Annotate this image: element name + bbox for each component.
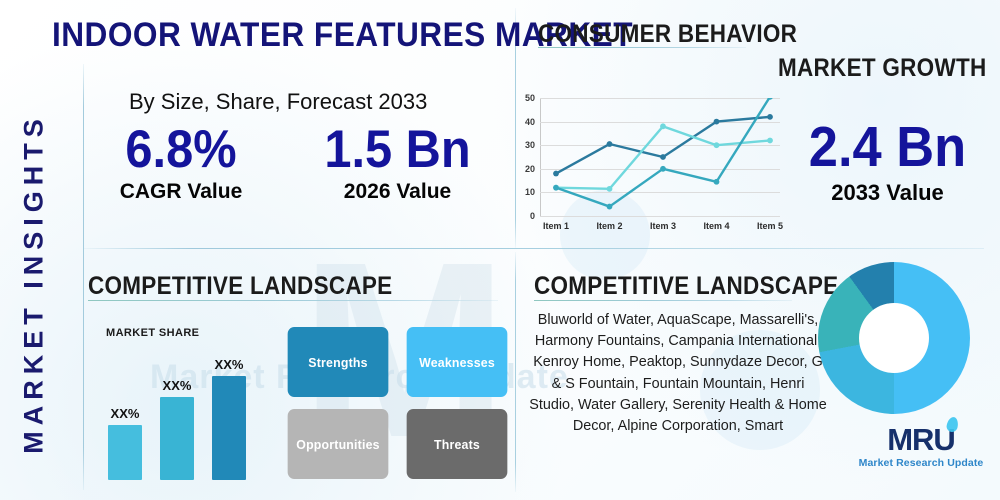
kpi-cagr: 6.8% CAGR Value [101,122,261,204]
chart-data-point [607,141,613,147]
chart-data-point [553,185,559,191]
infographic-canvas: M Market Research Update MARKET INSIGHTS… [0,0,1000,500]
section-heading-competitive-landscape-left: COMPETITIVE LANDSCAPE [88,272,392,301]
chart-x-tick-label: Item 1 [543,221,569,231]
chart-gridline [540,216,780,217]
section-heading-consumer-behavior: CONSUMER BEHAVIOR [538,20,797,49]
brand-logo: MRU Market Research Update [857,424,985,469]
chart-data-point [660,154,666,160]
kpi-cagr-value: 6.8% [107,122,254,178]
kpi-forecast-year-value: 2.4 Bn [798,118,977,178]
chart-y-tick-label: 0 [530,211,535,221]
kpi-base-year-caption: 2026 Value [315,180,480,204]
bar-column: XX% [212,376,246,480]
section-rule-consumer-behavior [538,47,746,48]
vertical-divider-left [83,64,84,490]
kpi-base-year-value: 1.5 Bn [322,122,474,178]
chart-y-tick-label: 10 [525,187,535,197]
vertical-divider-bottom [515,252,516,492]
market-share-donut-chart [818,262,970,414]
chart-data-point [767,114,773,120]
chart-y-tick-label: 20 [525,164,535,174]
swot-box-weaknesses[interactable]: Weaknesses [407,327,508,397]
bar-column: XX% [108,425,142,480]
bar-column: XX% [160,397,194,480]
chart-data-point [714,179,720,185]
logo-mark-text: MRU [887,422,955,457]
section-rule-competitive-landscape-left [88,300,498,301]
bar-value-label: XX% [215,357,244,372]
market-share-bar-chart: XX%XX%XX% [100,325,260,480]
chart-x-tick-label: Item 4 [703,221,729,231]
water-drop-icon [945,416,959,433]
logo-mark: MRU [887,424,955,455]
chart-series-layer [540,98,780,216]
chart-x-tick-label: Item 2 [596,221,622,231]
company-list: Bluworld of Water, AquaScape, Massarelli… [528,310,828,437]
side-label-market-insights: MARKET INSIGHTS [19,74,50,494]
chart-data-point [607,186,613,192]
chart-data-point [553,171,559,177]
chart-x-tick-label: Item 5 [757,221,783,231]
chart-data-point [767,138,773,144]
page-subtitle: By Size, Share, Forecast 2033 [129,89,427,115]
bar-value-label: XX% [111,406,140,421]
section-heading-competitive-landscape-right: COMPETITIVE LANDSCAPE [534,272,838,301]
section-rule-competitive-landscape-right [534,300,792,301]
donut-hole [859,303,929,373]
bar-rect [108,425,142,480]
chart-data-point [714,142,720,148]
chart-x-tick-label: Item 3 [650,221,676,231]
swot-box-threats[interactable]: Threats [407,409,508,479]
chart-y-tick-label: 50 [525,93,535,103]
chart-line-series-3 [556,98,770,207]
section-heading-market-growth: MARKET GROWTH [778,54,986,83]
kpi-base-year: 1.5 Bn 2026 Value [315,122,480,204]
horizontal-divider [84,248,984,249]
chart-data-point [607,204,613,210]
logo-tagline: Market Research Update [857,457,985,469]
kpi-forecast-year-caption: 2033 Value [790,180,985,206]
chart-y-tick-label: 30 [525,140,535,150]
bar-value-label: XX% [163,378,192,393]
swot-grid: StrengthsWeaknessesOpportunitiesThreats [285,327,510,479]
swot-box-strengths[interactable]: Strengths [288,327,389,397]
chart-data-point [660,166,666,172]
kpi-forecast-year: 2.4 Bn 2033 Value [790,118,985,206]
consumer-behavior-line-chart: 01020304050Item 1Item 2Item 3Item 4Item … [540,98,780,216]
chart-data-point [660,123,666,129]
bar-rect [212,376,246,480]
bar-rect [160,397,194,480]
swot-box-opportunities[interactable]: Opportunities [288,409,389,479]
chart-data-point [714,119,720,125]
chart-y-tick-label: 40 [525,117,535,127]
kpi-cagr-caption: CAGR Value [101,180,261,204]
